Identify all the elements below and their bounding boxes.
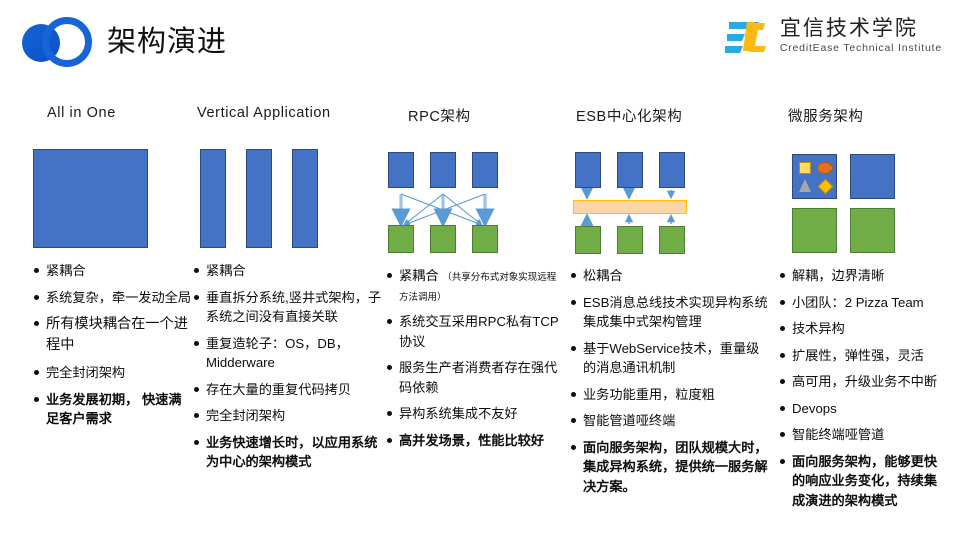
esb-consumer-block (575, 226, 601, 254)
list-item: 业务发展初期， 快速满足客户需求 (33, 390, 193, 429)
list-item: 面向服务架构，能够更快的响应业务变化，持续集成演进的架构模式 (779, 452, 949, 511)
list-item: 高并发场景，性能比较好 (386, 431, 562, 451)
column-title-esb: ESB中心化架构 (570, 105, 770, 126)
microservice-block-blue (792, 154, 837, 199)
rpc-consumer-block (430, 225, 456, 253)
list-item: Devops (779, 399, 949, 419)
list-item: 系统交互采用RPC私有TCP协议 (386, 312, 562, 351)
slide-root: 架构演进 宜信技术学院 CreditEase Technical Institu… (0, 0, 960, 540)
bullet-list-esb: 松耦合 ESB消息总线技术实现异构系统集成集中式架构管理 基于WebServic… (570, 266, 770, 496)
esb-service-block (659, 152, 685, 188)
diagram-esb (570, 146, 770, 258)
list-item: 小团队：2 Pizza Team (779, 293, 949, 313)
list-item: 高可用，升级业务不中断 (779, 372, 949, 392)
column-esb: ESB中心化架构 (570, 105, 770, 512)
list-item: 紧耦合 （共享分布式对象实现远程方法调用） (386, 266, 562, 305)
microservice-block-blue (850, 154, 895, 199)
silo-block (200, 149, 226, 248)
list-item: 智能终端哑管道 (779, 425, 949, 445)
column-title-rpc: RPC架构 (386, 105, 562, 126)
esb-consumer-block (617, 226, 643, 254)
diagram-vertical-application (193, 141, 383, 253)
column-title-all-in-one: All in One (33, 105, 193, 121)
column-vertical-application: Vertical Application 紧耦合 垂直拆分系统,竖井式架构，子系… (193, 105, 383, 488)
column-rpc: RPC架构 紧 (386, 105, 562, 466)
list-item: 扩展性，弹性强，灵活 (779, 346, 949, 366)
diagram-microservice (779, 146, 949, 258)
silo-block (246, 149, 272, 248)
list-item: 所有模块耦合在一个进程中 (33, 314, 193, 356)
list-item: 解耦，边界清晰 (779, 266, 949, 286)
list-item: 紧耦合 (193, 261, 383, 281)
list-item: 服务生产者消费者存在强代码依赖 (386, 358, 562, 397)
brand-text-block: 宜信技术学院 CreditEase Technical Institute (780, 18, 942, 54)
tc-monogram-icon (725, 18, 771, 54)
silo-block (292, 149, 318, 248)
list-item: 存在大量的重复代码拷贝 (193, 380, 383, 400)
list-item: 完全封闭架构 (193, 406, 383, 426)
yellow-square-icon (799, 162, 811, 174)
list-item: 重复造轮子：OS，DB，Midderware (193, 334, 383, 373)
esb-bus-bar (573, 200, 687, 214)
column-microservice: 微服务架构 解耦，边界清晰 小团队：2 Pizza Team 技术异构 扩展性，… (779, 105, 949, 526)
list-item: 完全封闭架构 (33, 363, 193, 383)
slide-header: 架构演进 宜信技术学院 CreditEase Technical Institu… (0, 0, 960, 88)
rpc-provider-block (472, 152, 498, 188)
logo-ring-circle (42, 17, 92, 67)
list-item: 垂直拆分系统,竖井式架构，子系统之间没有直接关联 (193, 288, 383, 327)
list-item-text: 紧耦合 (399, 268, 442, 283)
brand-name-en: CreditEase Technical Institute (780, 43, 942, 54)
esb-service-block (617, 152, 643, 188)
list-item: 紧耦合 (33, 261, 193, 281)
list-item: 智能管道哑终端 (570, 411, 770, 431)
list-item: 松耦合 (570, 266, 770, 286)
bullet-list-microservice: 解耦，边界清晰 小团队：2 Pizza Team 技术异构 扩展性，弹性强，灵活… (779, 266, 949, 510)
list-item: 异构系统集成不友好 (386, 404, 562, 424)
list-item: 系统复杂，牵一发动全局 (33, 288, 193, 308)
diagram-all-in-one (33, 141, 193, 253)
list-item: ESB消息总线技术实现异构系统集成集中式架构管理 (570, 293, 770, 332)
rpc-provider-block (430, 152, 456, 188)
rpc-consumer-block (388, 225, 414, 253)
list-item: 业务功能重用，粒度粗 (570, 385, 770, 405)
rpc-provider-block (388, 152, 414, 188)
column-title-vertical-application: Vertical Application (193, 105, 383, 121)
column-title-microservice: 微服务架构 (779, 105, 949, 126)
esb-service-block (575, 152, 601, 188)
gray-triangle-icon (799, 179, 811, 192)
bullet-list-rpc: 紧耦合 （共享分布式对象实现远程方法调用） 系统交互采用RPC私有TCP协议 服… (386, 266, 562, 450)
brand-lockup: 宜信技术学院 CreditEase Technical Institute (725, 18, 942, 54)
bullet-list-all-in-one: 紧耦合 系统复杂，牵一发动全局 所有模块耦合在一个进程中 完全封闭架构 业务发展… (33, 261, 193, 429)
list-item: 基于WebService技术，重量级的消息通讯机制 (570, 339, 770, 378)
esb-consumer-block (659, 226, 685, 254)
monolith-block (33, 149, 148, 248)
rpc-consumer-block (472, 225, 498, 253)
diagram-rpc (386, 146, 562, 258)
microservice-block-green (792, 208, 837, 253)
column-all-in-one: All in One 紧耦合 系统复杂，牵一发动全局 所有模块耦合在一个进程中 … (33, 105, 193, 445)
brand-name-cn: 宜信技术学院 (780, 18, 942, 39)
orange-ellipse-icon (817, 162, 833, 174)
list-item: 面向服务架构，团队规模大时，集成异构系统，提供统一服务解决方案。 (570, 438, 770, 497)
list-item: 业务快速增长时，以应用系统为中心的架构模式 (193, 433, 383, 472)
bullet-list-vertical-application: 紧耦合 垂直拆分系统,竖井式架构，子系统之间没有直接关联 重复造轮子：OS，DB… (193, 261, 383, 472)
yellow-diamond-icon (818, 179, 834, 195)
microservice-block-green (850, 208, 895, 253)
page-title: 架构演进 (107, 18, 227, 60)
list-item: 技术异构 (779, 319, 949, 339)
overlapping-circles-logo (22, 16, 94, 68)
